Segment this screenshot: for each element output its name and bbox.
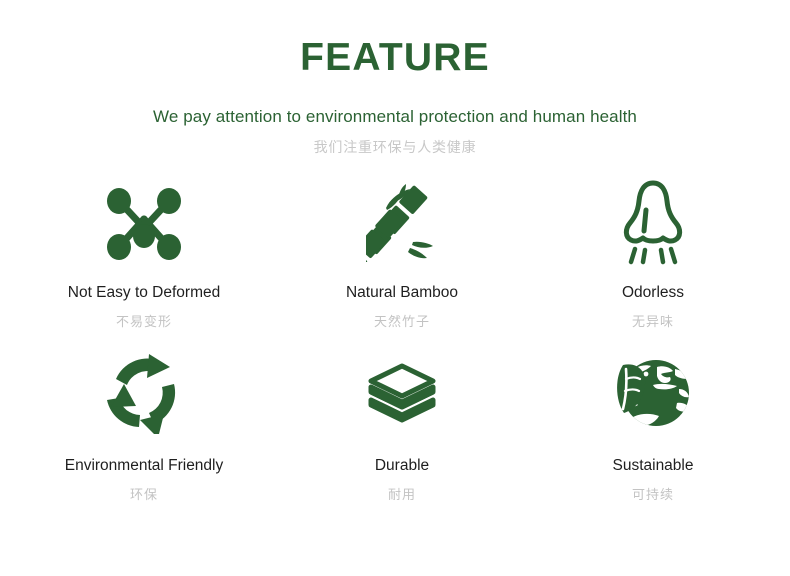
globe-leaf-icon (613, 345, 693, 441)
feature-item-natural-bamboo: Natural Bamboo 天然竹子 (288, 180, 516, 345)
feature-row: Environmental Friendly 环保 (0, 345, 790, 510)
feature-row: Not Easy to Deformed 不易变形 (0, 180, 790, 345)
page-title: FEATURE (0, 38, 790, 77)
molecule-nodes-icon (105, 180, 183, 266)
feature-label-cn: 耐用 (388, 487, 416, 503)
feature-label-cn: 可持续 (632, 487, 674, 503)
subtitle-chinese: 我们注重环保与人类健康 (0, 139, 790, 156)
bamboo-icon (366, 180, 438, 266)
feature-label-en: Natural Bamboo (346, 284, 458, 303)
feature-label-en: Environmental Friendly (65, 457, 224, 476)
feature-item-not-easy-to-deformed: Not Easy to Deformed 不易变形 (0, 180, 288, 345)
feature-grid: Not Easy to Deformed 不易变形 (0, 180, 790, 510)
feature-label-cn: 无异味 (632, 314, 674, 330)
section-header: FEATURE We pay attention to environmenta… (0, 0, 790, 156)
recycle-icon (102, 345, 186, 441)
feature-label-en: Sustainable (612, 457, 693, 476)
feature-label-en: Not Easy to Deformed (68, 284, 220, 303)
feature-item-sustainable: Sustainable 可持续 (516, 345, 790, 510)
feature-label-cn: 天然竹子 (374, 314, 430, 330)
feature-label-cn: 不易变形 (116, 314, 172, 330)
layers-icon (367, 345, 437, 441)
feature-label-en: Durable (375, 457, 429, 476)
feature-section: FEATURE We pay attention to environmenta… (0, 0, 790, 576)
feature-label-en: Odorless (622, 284, 684, 303)
feature-item-environmental-friendly: Environmental Friendly 环保 (0, 345, 288, 510)
feature-label-cn: 环保 (130, 487, 158, 503)
feature-item-durable: Durable 耐用 (288, 345, 516, 510)
subtitle-english: We pay attention to environmental protec… (0, 107, 790, 127)
nose-icon (622, 180, 684, 266)
feature-item-odorless: Odorless 无异味 (516, 180, 790, 345)
